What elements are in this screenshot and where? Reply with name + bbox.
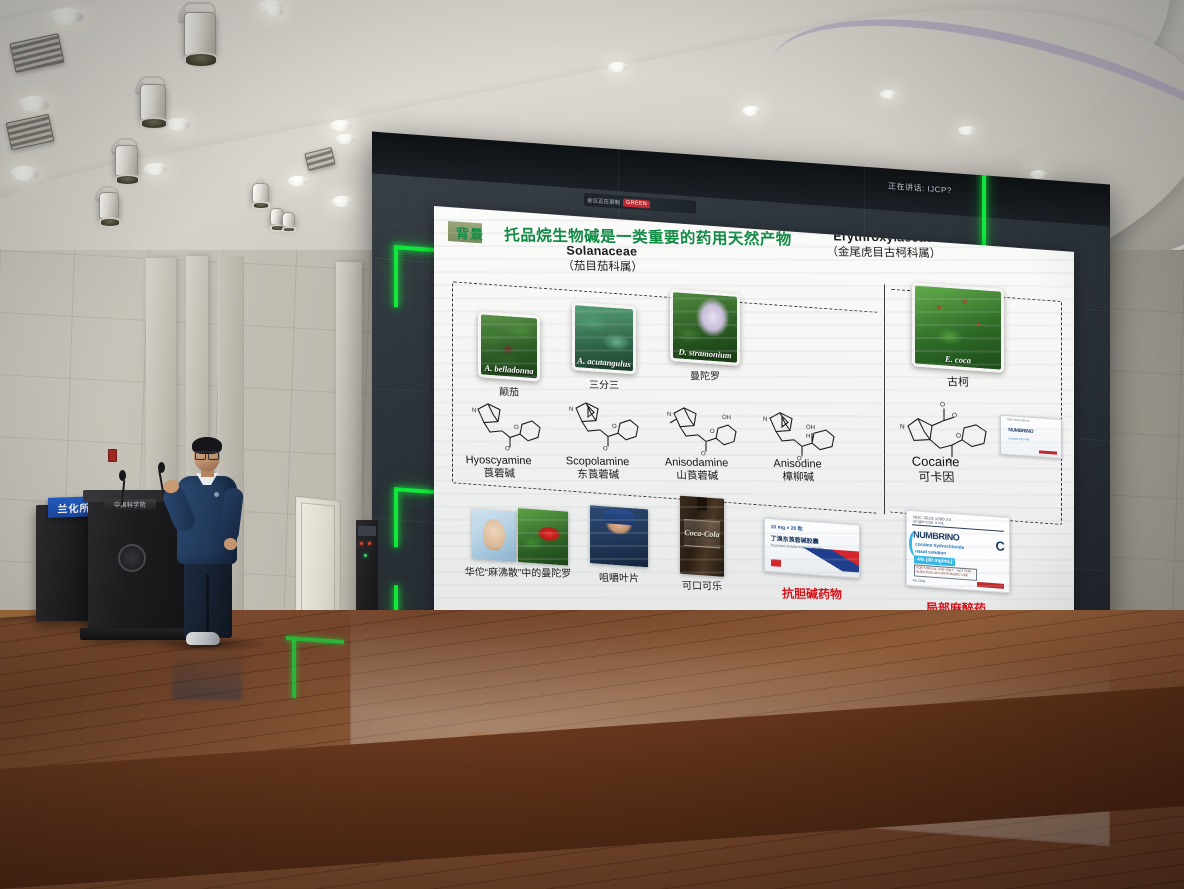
green-bracket-reflection [292, 640, 296, 698]
photo-huatuo [472, 509, 516, 562]
presenter-legs [184, 560, 232, 638]
downlight [958, 126, 976, 135]
plant-photo-belladonna: A. belladonna [478, 311, 540, 381]
svg-text:O: O [603, 446, 608, 452]
plant-name-acutangulus: 三分三 [572, 376, 637, 392]
speaker-reflection [172, 648, 242, 700]
downlight [336, 134, 356, 144]
equipment-rack [356, 520, 378, 622]
plant-name-coca: 古柯 [912, 373, 1005, 390]
section-divider [884, 284, 885, 514]
compound-label-scopolamine: Scopolamine 东莨菪碱 [551, 455, 644, 482]
plant-photo-stramonium: D. stramonium [670, 289, 740, 366]
svg-text:O: O [956, 432, 961, 439]
meeting-status-text: 会议正在录制 [587, 195, 620, 205]
fire-alarm-icon [108, 449, 117, 462]
structure-hyoscyamine: N O O [470, 395, 548, 457]
application-label-huatuo: 华佗“麻沸散”中的曼陀罗 [460, 563, 577, 580]
photo-coca-chewing [590, 505, 648, 567]
application-label-chewing: 咀嚼叶片 [586, 569, 653, 585]
presentation-slide: 背景 托品烷生物碱是一类重要的药用天然产物 Solanaceae （茄目茄科属）… [434, 206, 1074, 662]
downlight [332, 196, 353, 207]
svg-text:OH: OH [806, 425, 815, 432]
downlight [18, 96, 50, 112]
svg-text:O: O [940, 401, 945, 408]
glasses-icon [195, 451, 219, 457]
downlight [1030, 170, 1047, 179]
compound-label-cocaine: Cocaine 可卡因 [895, 453, 977, 484]
compound-label-anisodine: Anisodine 樟柳碱 [753, 457, 842, 484]
downlight [608, 62, 628, 72]
red-label-anticholinergic: 抗胆碱药物 [782, 585, 843, 603]
svg-text:O: O [710, 429, 715, 435]
svg-text:N: N [569, 407, 573, 413]
numbrino-c-mark: C [996, 538, 1005, 554]
presenter-shoe [186, 632, 220, 645]
structure-anisodamine: N O O OH [664, 398, 744, 464]
downlight [330, 120, 352, 131]
box-graphic-wave [791, 547, 859, 573]
svg-text:H: H [806, 434, 810, 440]
product-box-numbrino: NDC 0023-1090-24 single-use 4 mL NUMBRIN… [906, 510, 1010, 593]
svg-text:N: N [472, 408, 476, 414]
plant-photo-acutangulus: A. acutangulus [572, 302, 636, 375]
meeting-record-badge: GREEN [623, 198, 650, 208]
sweater-logo [214, 492, 219, 497]
presenter [170, 440, 244, 648]
family-label-solanaceae: Solanaceae （茄目茄科属） [561, 243, 643, 274]
plant-name-stramonium: 曼陀罗 [670, 367, 741, 383]
structure-scopolamine: N O O [566, 395, 642, 458]
svg-text:N: N [763, 417, 767, 423]
product-box-hyoscine-butylbromide: 10 mg × 20 粒 丁溴东莨菪碱胶囊 Hyoscine Butylbrom… [764, 518, 860, 579]
svg-text:O: O [514, 425, 519, 431]
slide-tag-label: 背景 [456, 223, 484, 244]
barcode-strip [977, 582, 1004, 589]
svg-text:OH: OH [722, 415, 731, 422]
plant-photo-coca: E. coca [912, 282, 1004, 373]
svg-text:O: O [612, 424, 617, 430]
downlight [166, 118, 191, 131]
downlight [288, 176, 308, 186]
svg-text:N: N [667, 412, 671, 418]
svg-text:O: O [505, 446, 510, 452]
downlight [10, 166, 40, 181]
downlight [742, 106, 761, 116]
compound-label-anisodamine: Anisodamine 山莨菪碱 [649, 456, 744, 483]
downlight [264, 6, 284, 16]
institute-emblem-icon [118, 544, 146, 572]
svg-text:N: N [900, 423, 905, 430]
photo-datura-flower [518, 508, 568, 566]
downlight [144, 163, 168, 175]
barcode-strip [1039, 450, 1057, 454]
lecture-hall-photo: 正在讲话: IJCP? 会议正在录制 GREEN 背景 [0, 0, 1184, 889]
application-label-cola: 可口可乐 [674, 577, 731, 593]
svg-text:O: O [952, 412, 957, 419]
presenter-right-hand [224, 538, 237, 550]
product-box-numbrino-small: NDC 0023-1090-24 NUMBRINO cocaine HCl 4% [1000, 415, 1062, 459]
downlight [880, 90, 898, 99]
compound-label-hyoscyamine: Hyoscyamine 莨菪碱 [455, 454, 542, 481]
lectern-nameplate: 中国科学院 [104, 499, 156, 510]
manufacturer-logo [771, 559, 781, 567]
photo-coca-cola-bottle: Coca-Cola [680, 496, 724, 577]
downlight [50, 8, 84, 25]
